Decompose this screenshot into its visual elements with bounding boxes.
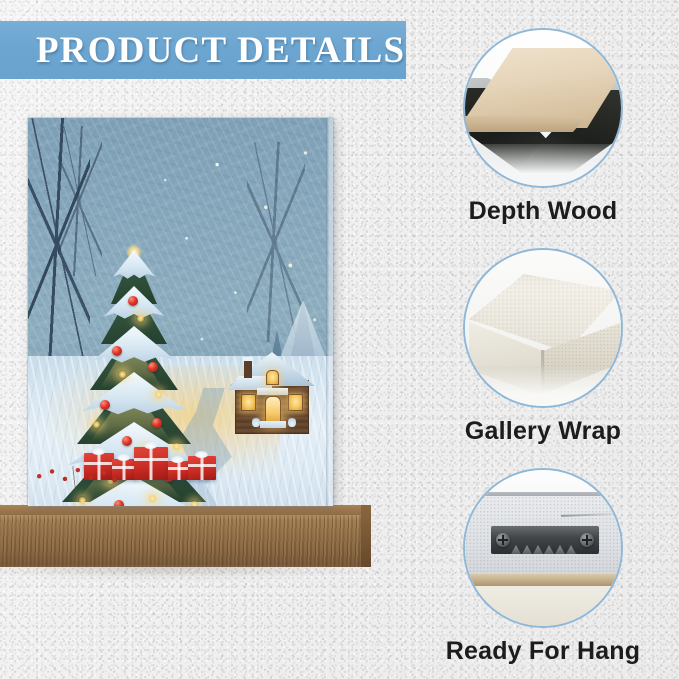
tree-ornament — [128, 296, 138, 306]
feature-label-gallery-wrap: Gallery Wrap — [463, 417, 623, 446]
cabin-door — [265, 396, 281, 424]
screw-icon — [496, 533, 510, 547]
cabin-shrub — [252, 417, 260, 427]
cabin-steps — [260, 421, 286, 428]
canvas-wrap-edge — [326, 118, 333, 506]
bare-tree-icon — [247, 142, 305, 342]
tree-ornament — [114, 500, 124, 506]
feature-label-ready-for-hang: Ready For Hang — [443, 637, 643, 666]
artwork-cabin — [224, 346, 320, 442]
depth-wood-circle[interactable] — [463, 28, 623, 188]
gift-bow — [92, 448, 105, 455]
wooden-floating-shelf — [0, 505, 371, 567]
shelf-right-edge — [361, 505, 371, 567]
product-details-banner: PRODUCT DETAILS — [0, 21, 406, 79]
tree-light — [190, 500, 199, 506]
tree-light — [136, 314, 145, 323]
cabin-attic-window — [266, 370, 279, 385]
cabin-window-left — [241, 394, 256, 411]
gift-bow — [144, 442, 157, 449]
artwork-berry-twigs — [30, 466, 122, 500]
tree-light — [118, 370, 127, 379]
shelf-drop-shadow — [0, 565, 364, 581]
canvas-back-lower — [465, 586, 621, 628]
cabin-chimney — [244, 360, 252, 378]
feature-gallery-wrap[interactable]: Gallery Wrap — [463, 248, 623, 446]
cabin-chimney-snow — [243, 357, 253, 361]
gift-bow — [171, 456, 184, 463]
feature-depth-wood[interactable]: Depth Wood — [463, 28, 623, 226]
gift-box — [168, 461, 190, 480]
product-details-page: PRODUCT DETAILS — [0, 0, 679, 679]
cabin-window-right — [288, 394, 303, 411]
tree-light — [154, 390, 163, 399]
gift-box — [134, 447, 168, 480]
tree-ornament — [148, 362, 158, 372]
gift-bow — [117, 454, 130, 461]
gift-box — [188, 456, 216, 480]
ready-for-hang-circle[interactable] — [463, 468, 623, 628]
gallery-wrap-circle[interactable] — [463, 248, 623, 408]
circle-bottom-fade — [465, 144, 621, 186]
gift-bow — [195, 451, 208, 458]
screw-icon — [580, 533, 594, 547]
tree-light — [92, 420, 101, 429]
tree-light — [148, 494, 157, 503]
shelf-front-face — [0, 515, 371, 567]
canvas-artwork[interactable] — [28, 118, 333, 506]
circle-bottom-fade — [465, 366, 621, 406]
feature-label-depth-wood: Depth Wood — [463, 197, 623, 226]
cabin-shrub — [288, 417, 296, 427]
tree-ornament — [100, 400, 110, 410]
cabin-porch-roof — [257, 388, 288, 395]
feature-ready-for-hang[interactable]: Ready For Hang — [463, 468, 623, 666]
tree-ornament — [112, 346, 122, 356]
tree-ornament — [152, 418, 162, 428]
page-title: PRODUCT DETAILS — [36, 29, 405, 72]
